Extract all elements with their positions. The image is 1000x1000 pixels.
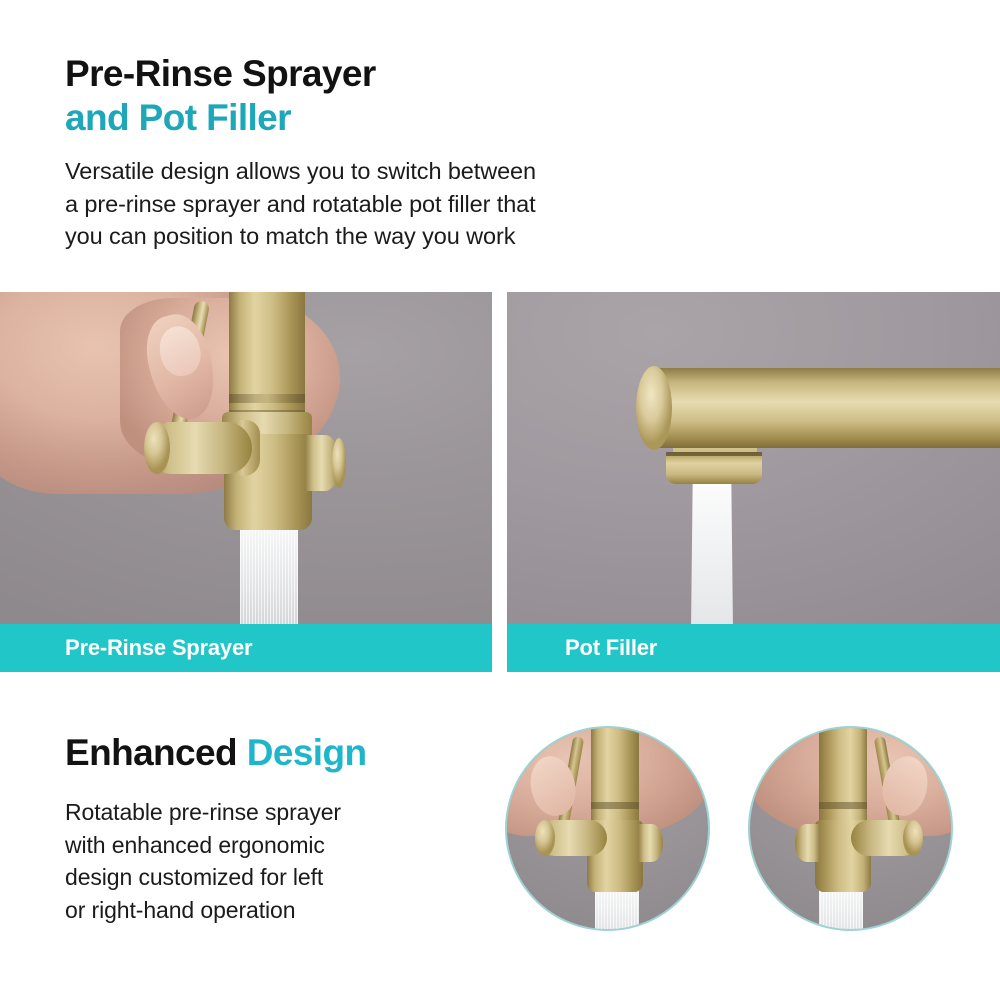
faucet-seam [229,394,305,403]
water-spray-stream [819,890,863,931]
spout-ring-seam [666,452,762,456]
caption-bar-pot-filler: Pot Filler [507,624,1000,672]
spout-endcap [636,366,672,450]
caption-label: Pre-Rinse Sprayer [65,635,252,661]
water-spray-stream [240,530,298,624]
bottom-text-block: Enhanced Design Rotatable pre-rinse spra… [65,732,485,927]
faucet-side-nub [639,824,663,862]
section-title-enhanced-design: Enhanced Design [65,732,485,774]
pot-filler-spout-tube [645,368,1000,448]
circle-right-hand-operation [748,726,953,931]
page-title: Pre-Rinse Sprayer and Pot Filler [65,52,665,139]
faucet-lever-endcap [144,422,170,474]
bottom-description: Rotatable pre-rinse sprayer with enhance… [65,796,485,927]
top-text-block: Pre-Rinse Sprayer and Pot Filler Versati… [65,52,665,253]
circle-content [507,728,708,929]
photo-pot-filler [507,292,1000,624]
photo-comparison-band: Pre-Rinse Sprayer Pot Filler [0,292,1000,672]
section-title-black: Enhanced [65,732,237,773]
infographic-page: Pre-Rinse Sprayer and Pot Filler Versati… [0,0,1000,1000]
faucet-seam [819,802,867,809]
title-line-2: and Pot Filler [65,96,665,140]
caption-label: Pot Filler [565,635,657,661]
photo-pre-rinse-sprayer [0,292,492,624]
caption-bar-pre-rinse-sprayer: Pre-Rinse Sprayer [0,624,492,672]
faucet-lever-endcap [903,820,923,856]
water-spray-stream [595,890,639,931]
water-solid-stream [691,482,733,624]
photo-card-pre-rinse-sprayer: Pre-Rinse Sprayer [0,292,492,672]
photo-card-pot-filler: Pot Filler [507,292,1000,672]
spout-aerator-ring [666,452,762,484]
circle-left-hand-operation [505,726,710,931]
top-description: Versatile design allows you to switch be… [65,155,665,252]
faucet-seam [591,802,639,809]
faucet-lever-endcap [535,820,555,856]
section-title-accent: Design [247,732,367,773]
faucet-side-nub [795,824,819,862]
faucet-side-nub-cap [332,438,346,488]
title-line-1: Pre-Rinse Sprayer [65,52,665,96]
circle-content [750,728,951,929]
